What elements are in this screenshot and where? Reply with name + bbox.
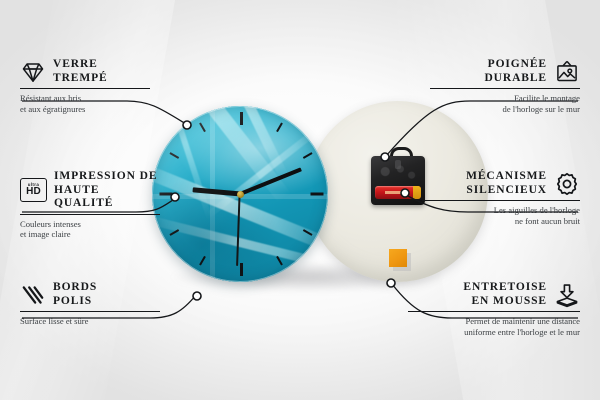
callout-rule (408, 311, 580, 312)
diagonal-stripes-icon (20, 282, 46, 308)
callout-entretoise-mousse: ENTRETOISE EN MOUSSE Permet de maintenir… (408, 281, 580, 338)
callout-header: ENTRETOISE EN MOUSSE (408, 281, 580, 308)
callout-title: IMPRESSION DE HAUTE QUALITÉ (54, 170, 160, 211)
callout-title: MÉCANISME SILENCIEUX (466, 170, 547, 197)
battery-band (385, 191, 407, 194)
callout-mecanisme-silencieux: MÉCANISME SILENCIEUX Les aiguilles de l'… (422, 170, 580, 227)
callout-verre-trempe: VERRE TREMPÉ Résistant aux bris et aux é… (20, 58, 150, 115)
callout-bords-polis: BORDS POLIS Surface lisse et sûre (20, 281, 160, 327)
callout-header: VERRE TREMPÉ (20, 58, 150, 85)
ultra-hd-badge-icon: ultra HD (20, 178, 47, 202)
callout-description: Résistant aux bris et aux égratignures (20, 93, 150, 114)
diamond-icon (20, 59, 46, 85)
callout-header: ultra HD IMPRESSION DE HAUTE QUALITÉ (20, 170, 160, 211)
callout-description: Les aiguilles de l'horloge ne font aucun… (422, 205, 580, 226)
callout-title: ENTRETOISE EN MOUSSE (463, 281, 547, 308)
callout-description: Permet de maintenir une distance uniform… (408, 316, 580, 337)
callout-description: Surface lisse et sûre (20, 316, 160, 327)
callout-title: BORDS POLIS (53, 281, 97, 308)
battery-tip (413, 186, 421, 199)
callout-rule (20, 214, 160, 215)
badge-main-label: HD (26, 187, 41, 197)
callout-description: Facilite le montage de l'horloge sur le … (430, 93, 580, 114)
callout-rule (422, 200, 580, 201)
movement-detail (378, 164, 418, 182)
framed-picture-hanging-icon (554, 59, 580, 85)
callout-title: VERRE TREMPÉ (53, 58, 108, 85)
callout-header: POIGNÉE DURABLE (430, 58, 580, 85)
callout-rule (20, 88, 150, 89)
infographic-canvas: VERRE TREMPÉ Résistant aux bris et aux é… (0, 0, 600, 400)
callout-header: BORDS POLIS (20, 281, 160, 308)
battery (375, 186, 421, 199)
gear-icon (554, 171, 580, 197)
callout-poignee-durable: POIGNÉE DURABLE Facilite le montage de l… (430, 58, 580, 115)
callout-rule (430, 88, 580, 89)
callout-impression-hd: ultra HD IMPRESSION DE HAUTE QUALITÉ Cou… (20, 170, 160, 240)
hands-center-cap (237, 191, 244, 198)
clock-front-view (152, 106, 328, 282)
clock-movement (371, 156, 425, 205)
callout-title: POIGNÉE DURABLE (484, 58, 547, 85)
foam-spacer (389, 249, 407, 267)
callout-header: MÉCANISME SILENCIEUX (422, 170, 580, 197)
down-arrow-on-pad-icon (554, 282, 580, 308)
callout-rule (20, 311, 160, 312)
callout-description: Couleurs intenses et image claire (20, 219, 160, 240)
